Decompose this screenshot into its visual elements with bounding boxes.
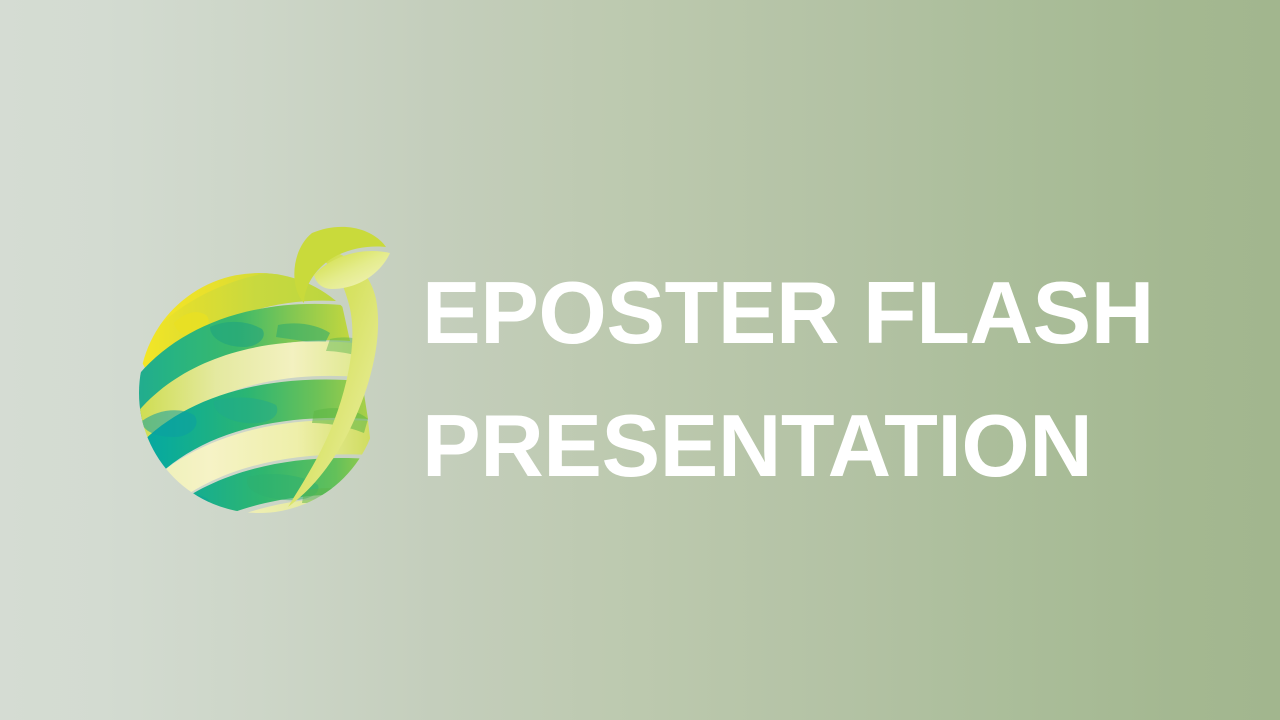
spiral-ribbon-globe-logo	[118, 205, 400, 517]
title-slide: EPOSTER FLASH PRESENTATION	[0, 0, 1280, 720]
title-line-1: EPOSTER FLASH	[422, 246, 1222, 379]
slide-title: EPOSTER FLASH PRESENTATION	[422, 246, 1222, 512]
title-line-2: PRESENTATION	[422, 379, 1222, 512]
